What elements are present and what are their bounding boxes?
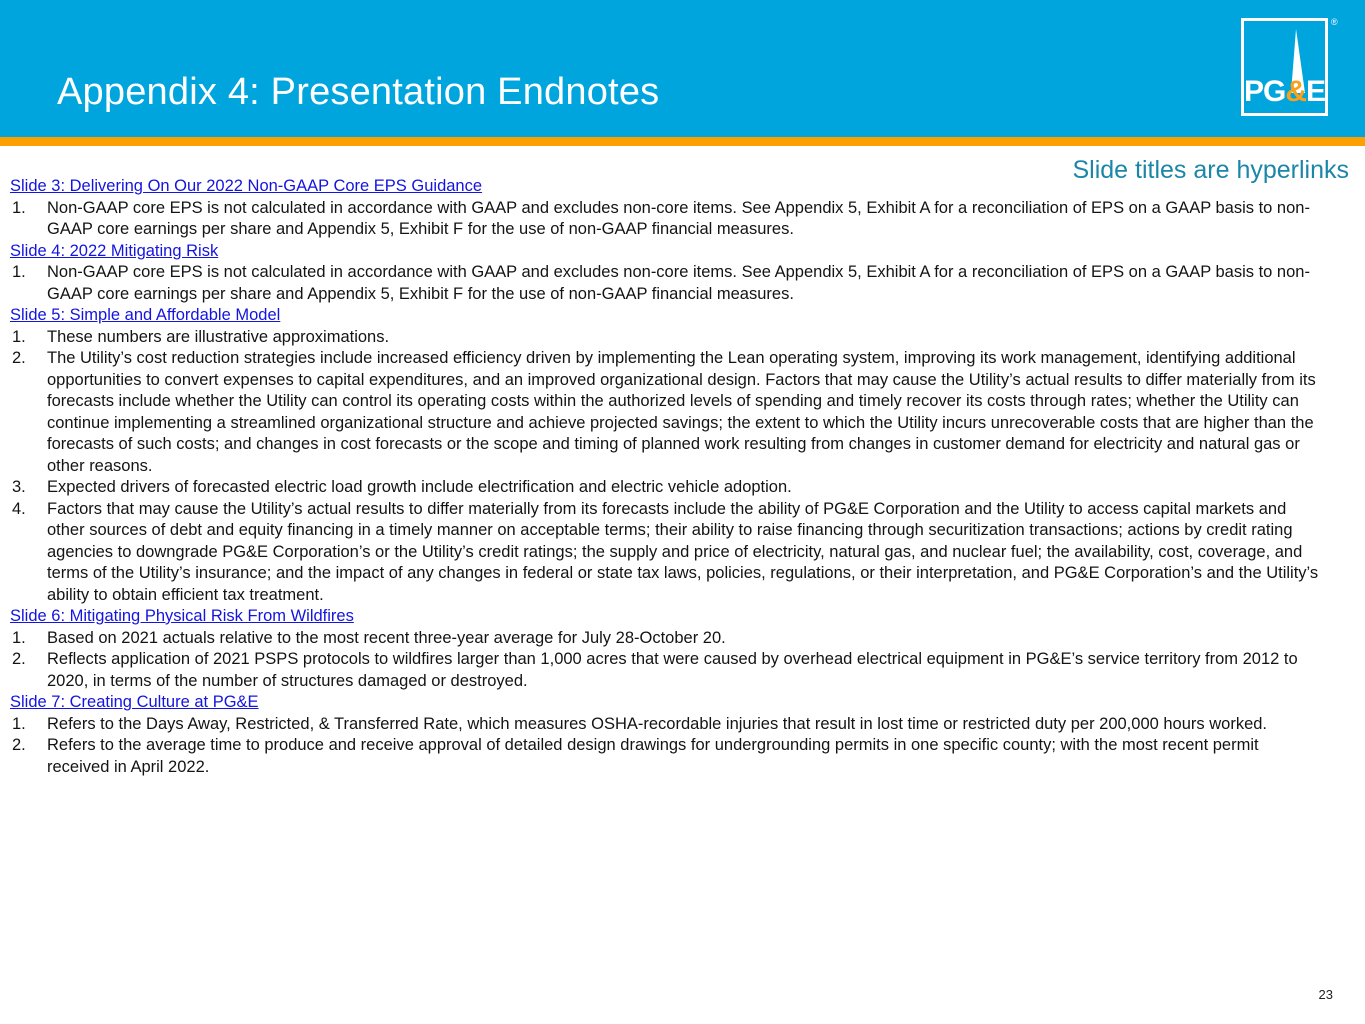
- endnote-text: Refers to the average time to produce an…: [47, 735, 1355, 778]
- endnote-number: 4.: [10, 499, 47, 521]
- logo-text-e: E: [1306, 75, 1325, 108]
- endnote-number: 3.: [10, 477, 47, 499]
- endnote-text: Based on 2021 actuals relative to the mo…: [47, 628, 1355, 650]
- endnote-section: Slide 3: Delivering On Our 2022 Non-GAAP…: [10, 176, 1355, 241]
- endnote-number: 2.: [10, 649, 47, 671]
- endnote-item: 2.The Utility’s cost reduction strategie…: [10, 348, 1355, 477]
- endnote-number: 1.: [10, 714, 47, 736]
- slide-title-link[interactable]: Slide 4: 2022 Mitigating Risk: [10, 241, 1355, 263]
- slide-title-link[interactable]: Slide 5: Simple and Affordable Model: [10, 305, 1355, 327]
- endnote-section: Slide 6: Mitigating Physical Risk From W…: [10, 606, 1355, 692]
- page-number: 23: [1319, 987, 1333, 1002]
- page-title: Appendix 4: Presentation Endnotes: [57, 69, 659, 115]
- endnote-section: Slide 5: Simple and Affordable Model1.Th…: [10, 305, 1355, 606]
- endnote-item: 1.Non-GAAP core EPS is not calculated in…: [10, 262, 1355, 305]
- pge-logo: PG&E ®: [1241, 18, 1336, 120]
- slide-title-link[interactable]: Slide 3: Delivering On Our 2022 Non-GAAP…: [10, 176, 1355, 198]
- endnote-text: The Utility’s cost reduction strategies …: [47, 348, 1355, 477]
- endnote-number: 2.: [10, 348, 47, 370]
- endnote-text: Non-GAAP core EPS is not calculated in a…: [47, 198, 1355, 241]
- endnote-item: 4.Factors that may cause the Utility’s a…: [10, 499, 1355, 607]
- endnote-item: 1.These numbers are illustrative approxi…: [10, 327, 1355, 349]
- logo-text-pg: PG: [1244, 75, 1285, 108]
- endnote-number: 2.: [10, 735, 47, 757]
- endnote-section: Slide 7: Creating Culture at PG&E1.Refer…: [10, 692, 1355, 778]
- logo-wordmark: PG&E: [1244, 77, 1325, 107]
- slide-title-link[interactable]: Slide 7: Creating Culture at PG&E: [10, 692, 1355, 714]
- endnote-number: 1.: [10, 262, 47, 284]
- endnote-text: Non-GAAP core EPS is not calculated in a…: [47, 262, 1355, 305]
- endnote-item: 1.Refers to the Days Away, Restricted, &…: [10, 714, 1355, 736]
- endnote-text: Reflects application of 2021 PSPS protoc…: [47, 649, 1355, 692]
- endnote-text: Refers to the Days Away, Restricted, & T…: [47, 714, 1355, 736]
- endnote-section: Slide 4: 2022 Mitigating Risk1.Non-GAAP …: [10, 241, 1355, 306]
- endnote-item: 3.Expected drivers of forecasted electri…: [10, 477, 1355, 499]
- registered-trademark-icon: ®: [1331, 18, 1338, 27]
- endnote-item: 2.Refers to the average time to produce …: [10, 735, 1355, 778]
- logo-ampersand-icon: &: [1285, 75, 1306, 108]
- endnote-item: 2.Reflects application of 2021 PSPS prot…: [10, 649, 1355, 692]
- endnote-number: 1.: [10, 327, 47, 349]
- endnote-item: 1.Based on 2021 actuals relative to the …: [10, 628, 1355, 650]
- endnote-text: Factors that may cause the Utility’s act…: [47, 499, 1355, 607]
- endnote-text: Expected drivers of forecasted electric …: [47, 477, 1355, 499]
- endnote-number: 1.: [10, 198, 47, 220]
- endnote-number: 1.: [10, 628, 47, 650]
- header-orange-rule: [0, 137, 1365, 146]
- endnote-text: These numbers are illustrative approxima…: [47, 327, 1355, 349]
- logo-border-box: PG&E: [1241, 18, 1328, 116]
- endnotes-content: Slide 3: Delivering On Our 2022 Non-GAAP…: [0, 176, 1355, 778]
- endnote-item: 1.Non-GAAP core EPS is not calculated in…: [10, 198, 1355, 241]
- slide-title-link[interactable]: Slide 6: Mitigating Physical Risk From W…: [10, 606, 1355, 628]
